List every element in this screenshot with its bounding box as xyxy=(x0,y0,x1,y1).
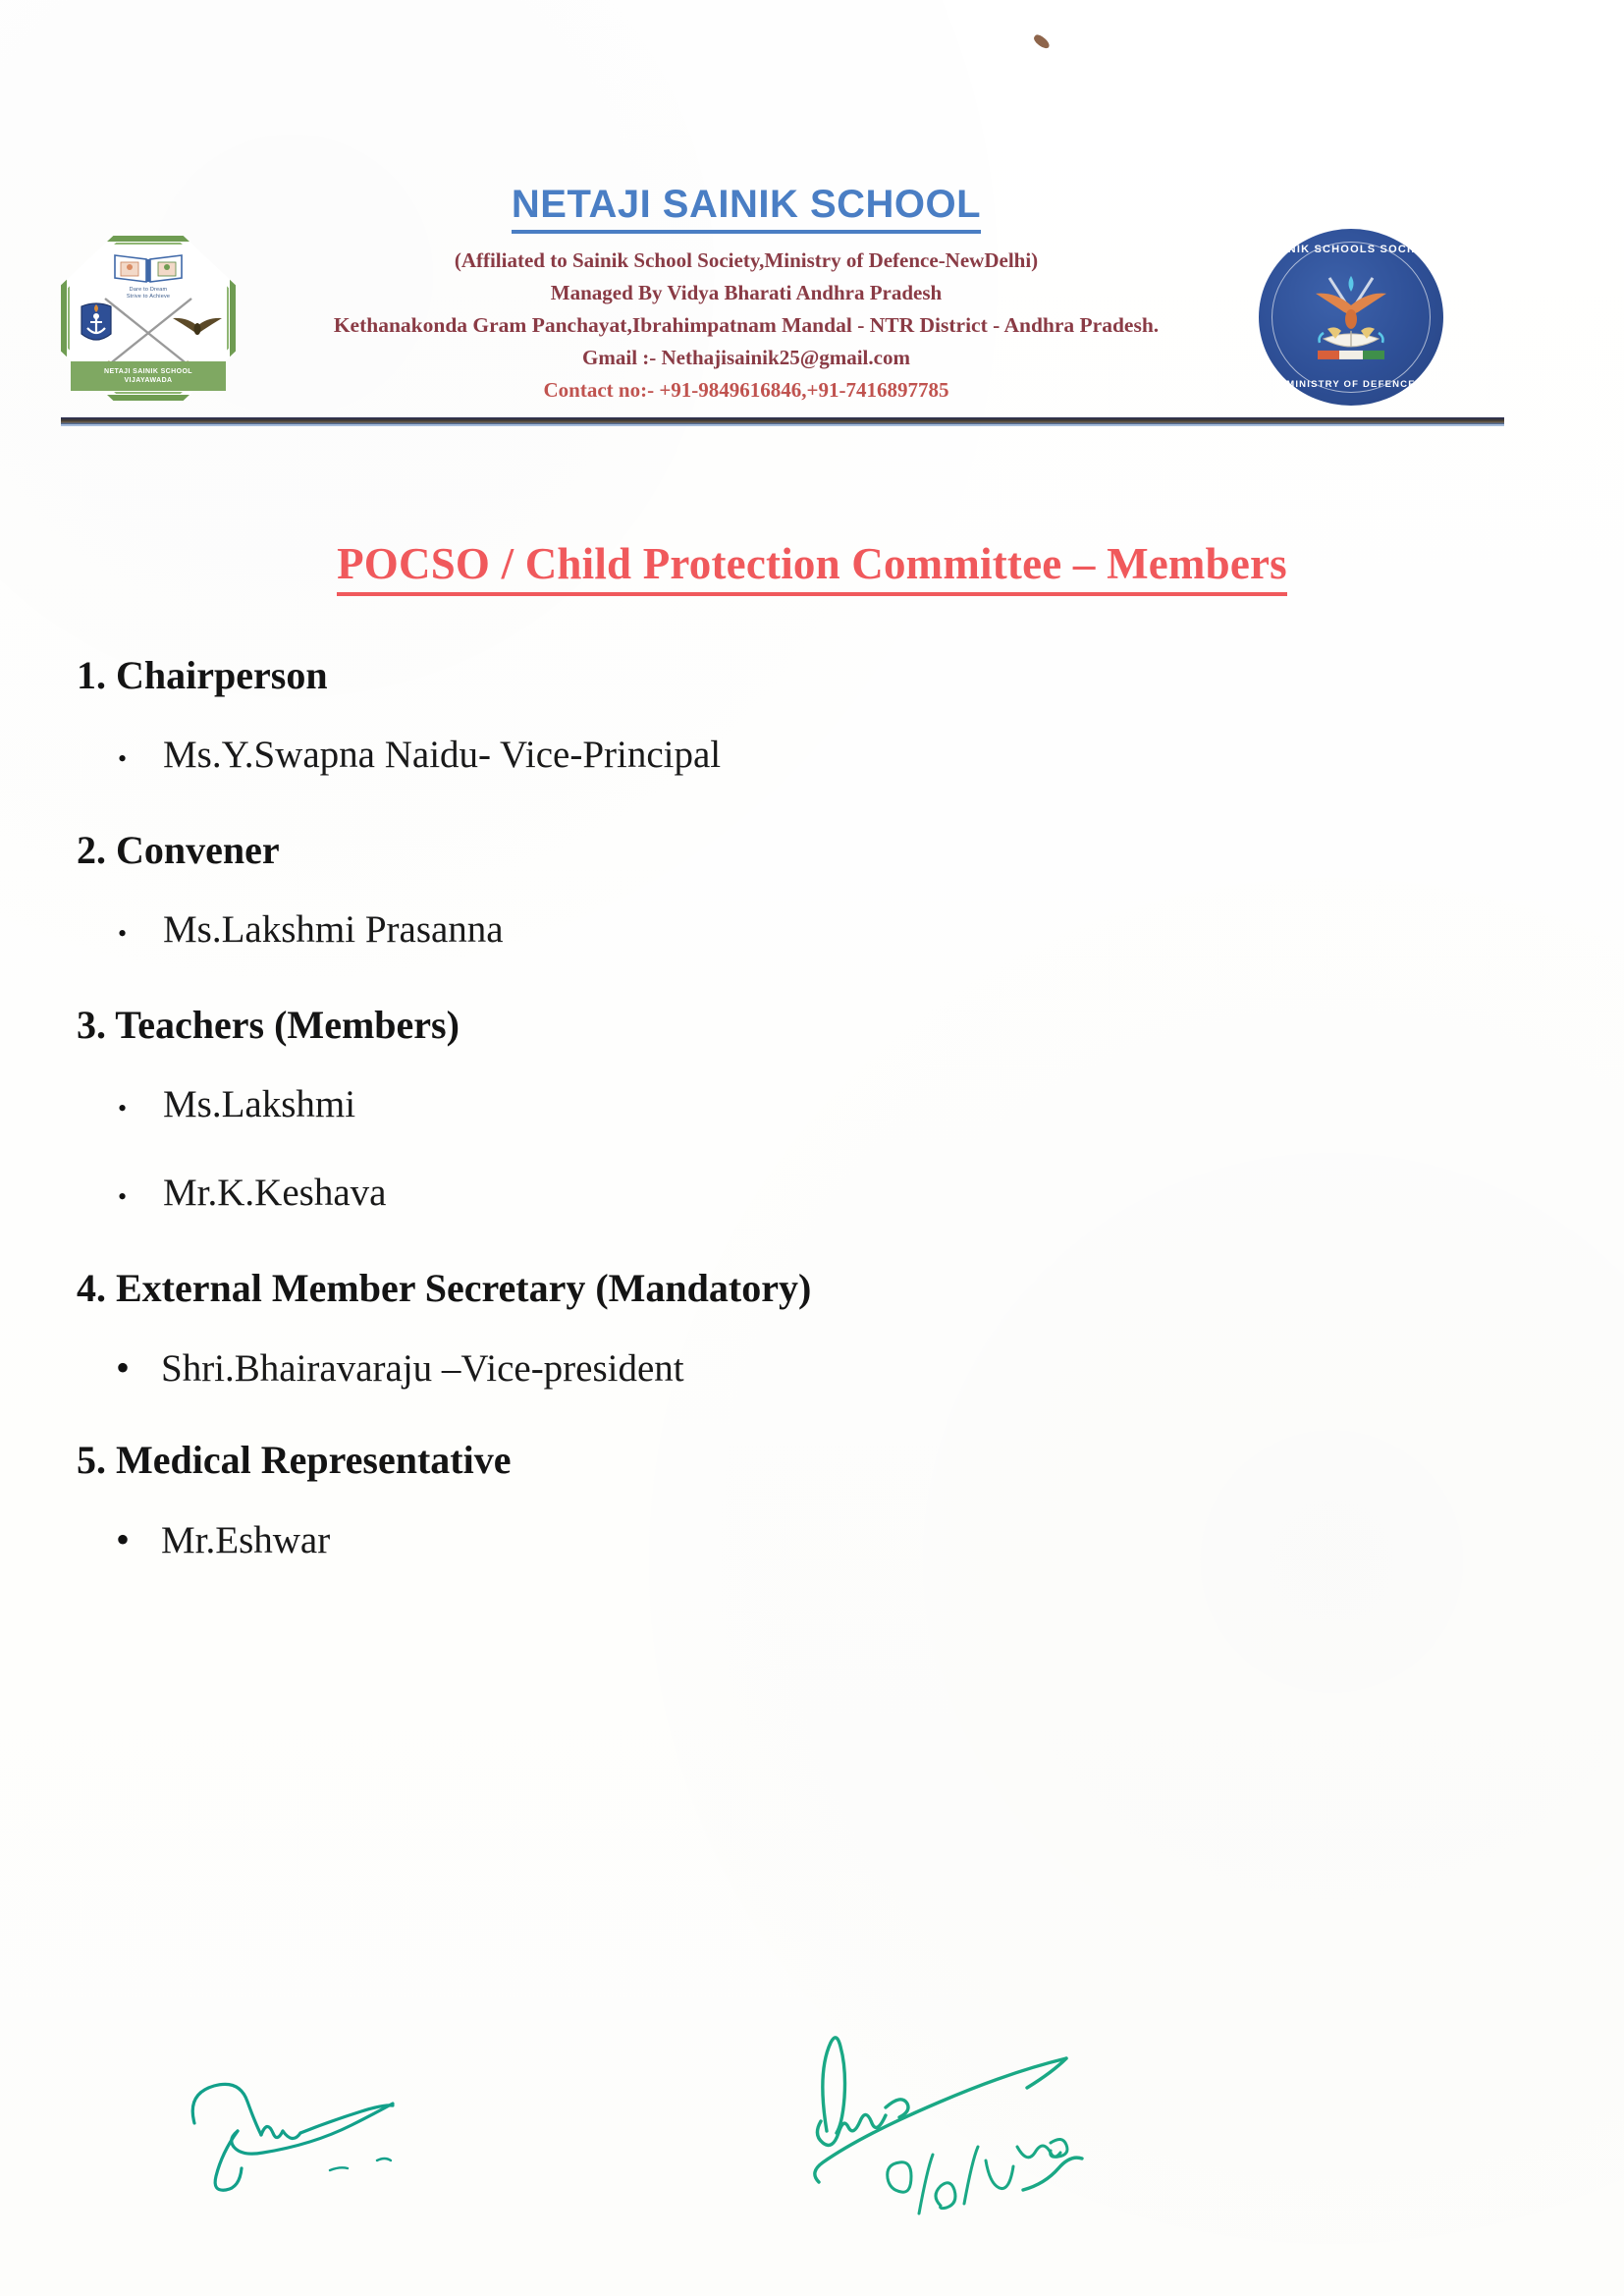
handwritten-signature-left-icon xyxy=(165,2025,460,2212)
sainik-schools-society-seal-logo: SAINIK SCHOOLS SOCIETY MINISTRY OF DEFEN… xyxy=(1259,229,1443,406)
contact-line: Contact no:- +91-9849616846,+91-74168977… xyxy=(250,375,1242,406)
handwritten-signature-right-icon xyxy=(776,2003,1100,2219)
tri-service-emblem-icon xyxy=(1300,272,1402,366)
section-external-member-secretary: 4. External Member Secretary (Mandatory)… xyxy=(77,1251,1530,1397)
managed-by-line: Managed By Vidya Bharati Andhra Pradesh xyxy=(250,278,1242,308)
seal-top-text: SAINIK SCHOOLS SOCIETY xyxy=(1259,244,1443,255)
member-list: • Shri.Bhairavaraju –Vice-president xyxy=(77,1312,1530,1397)
bullet-icon: • xyxy=(77,1080,163,1137)
section-convener: 2. Convener • Ms.Lakshmi Prasanna xyxy=(77,813,1530,962)
address-line: Kethanakonda Gram Panchayat,Ibrahimpatna… xyxy=(250,310,1242,341)
bullet-icon: • xyxy=(77,905,163,962)
bullet-icon: • xyxy=(77,1169,163,1226)
section-heading: 1. Chairperson xyxy=(77,638,1530,699)
member-name: Ms.Y.Swapna Naidu- Vice-Principal xyxy=(163,727,1530,784)
signature-right xyxy=(776,2003,1100,2219)
list-item: • Shri.Bhairavaraju –Vice-president xyxy=(77,1312,1530,1397)
member-list: • Ms.Lakshmi Prasanna xyxy=(77,874,1530,962)
school-name: NETAJI SAINIK SCHOOL xyxy=(512,182,981,234)
page-title-text: POCSO / Child Protection Committee – Mem… xyxy=(337,538,1287,596)
letterhead: Dare to DreamStrive to Achieve xyxy=(0,182,1624,417)
bullet-icon: • xyxy=(77,1339,161,1396)
email-line: Gmail :- Nethajisainik25@gmail.com xyxy=(250,343,1242,373)
crest-ribbon: NETAJI SAINIK SCHOOL VIJAYAWADA xyxy=(71,361,226,391)
list-item: • Ms.Lakshmi Prasanna xyxy=(77,874,1530,962)
member-name: Ms.Lakshmi xyxy=(163,1076,1530,1133)
list-item: • Mr.K.Keshava xyxy=(77,1137,1530,1226)
member-list: • Ms.Y.Swapna Naidu- Vice-Principal xyxy=(77,699,1530,788)
crest-ribbon-line2: VIJAYAWADA xyxy=(124,376,172,385)
header-divider-rule-shadow xyxy=(61,424,1504,426)
member-name: Shri.Bhairavaraju –Vice-president xyxy=(161,1340,1530,1397)
air-force-eagle-icon xyxy=(171,312,224,342)
member-name: Mr.Eshwar xyxy=(161,1512,1530,1569)
section-teachers: 3. Teachers (Members) • Ms.Lakshmi • Mr.… xyxy=(77,988,1530,1226)
document-page: Dare to DreamStrive to Achieve xyxy=(0,0,1624,2296)
bullet-icon: • xyxy=(77,1511,161,1568)
letterhead-text: NETAJI SAINIK SCHOOL (Affiliated to Sain… xyxy=(250,182,1242,406)
signature-left xyxy=(165,2025,460,2212)
section-heading: 4. External Member Secretary (Mandatory) xyxy=(77,1251,1530,1312)
seal-bottom-text: MINISTRY OF DEFENCE xyxy=(1259,379,1443,390)
section-heading: 2. Convener xyxy=(77,813,1530,874)
list-item: • Ms.Lakshmi xyxy=(77,1049,1530,1137)
scan-artifact-mark xyxy=(1032,33,1052,51)
member-list: • Ms.Lakshmi • Mr.K.Keshava xyxy=(77,1049,1530,1226)
page-title: POCSO / Child Protection Committee – Mem… xyxy=(0,538,1624,596)
affiliation-line: (Affiliated to Sainik School Society,Min… xyxy=(250,246,1242,276)
member-name: Mr.K.Keshava xyxy=(163,1165,1530,1222)
list-item: • Ms.Y.Swapna Naidu- Vice-Principal xyxy=(77,699,1530,788)
crest-ribbon-line1: NETAJI SAINIK SCHOOL xyxy=(104,367,192,376)
bullet-icon: • xyxy=(77,731,163,788)
section-medical-representative: 5. Medical Representative • Mr.Eshwar xyxy=(77,1423,1530,1569)
member-list: • Mr.Eshwar xyxy=(77,1484,1530,1569)
school-crest-logo: Dare to DreamStrive to Achieve xyxy=(61,236,236,401)
committee-sections: 1. Chairperson • Ms.Y.Swapna Naidu- Vice… xyxy=(77,638,1530,1569)
section-heading: 5. Medical Representative xyxy=(77,1423,1530,1484)
member-name: Ms.Lakshmi Prasanna xyxy=(163,902,1530,958)
section-heading: 3. Teachers (Members) xyxy=(77,988,1530,1049)
header-divider-rule xyxy=(61,417,1504,424)
open-book-icon xyxy=(111,249,186,285)
list-item: • Mr.Eshwar xyxy=(77,1484,1530,1569)
navy-anchor-crest-icon xyxy=(78,301,115,348)
section-chairperson: 1. Chairperson • Ms.Y.Swapna Naidu- Vice… xyxy=(77,638,1530,788)
